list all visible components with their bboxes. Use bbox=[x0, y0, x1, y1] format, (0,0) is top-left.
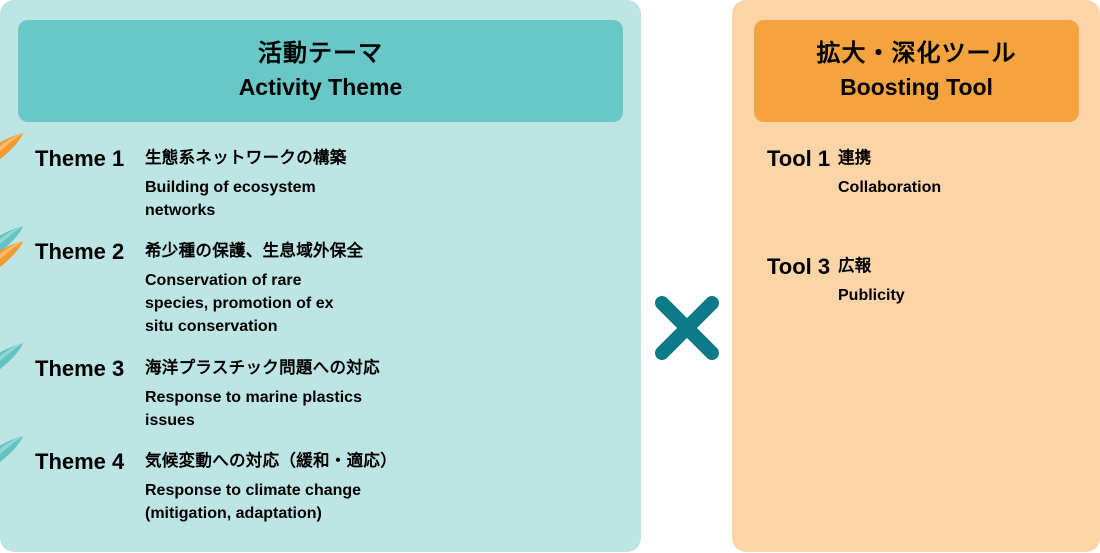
theme-tag: Theme 4 bbox=[35, 451, 124, 473]
tool-text-ja: 広報 bbox=[838, 258, 905, 275]
tool-tag: Tool 3 bbox=[767, 256, 830, 278]
theme-text-en: Response to climate change (mitigation, … bbox=[145, 479, 397, 525]
tool-tag: Tool 1 bbox=[767, 148, 830, 170]
tool-text-en: Publicity bbox=[838, 284, 905, 307]
theme-text-en: Building of ecosystem networks bbox=[145, 176, 347, 222]
theme-text-en: Conservation of rare species, promotion … bbox=[145, 269, 363, 339]
theme-text-en: Response to marine plastics issues bbox=[145, 386, 380, 432]
boosting-tool-header: 拡大・深化ツール Boosting Tool bbox=[754, 20, 1079, 122]
multiply-x-icon bbox=[652, 293, 722, 363]
boosting-tool-title-en: Boosting Tool bbox=[840, 73, 993, 102]
theme-text-ja: 気候変動への対応（緩和・適応） bbox=[145, 453, 397, 470]
tool-item: Tool 3 広報 Publicity bbox=[0, 256, 830, 278]
tool-text-block: 広報 Publicity bbox=[838, 258, 905, 307]
tool-text-en: Collaboration bbox=[838, 176, 941, 199]
theme-tag: Theme 3 bbox=[35, 358, 124, 380]
theme-item: Theme 3 海洋プラスチック問題への対応 Response to marin… bbox=[0, 358, 124, 380]
tool-item: Tool 1 連携 Collaboration bbox=[0, 148, 830, 170]
theme-text-ja: 海洋プラスチック問題への対応 bbox=[145, 360, 380, 377]
theme-text-block: 海洋プラスチック問題への対応 Response to marine plasti… bbox=[145, 360, 380, 432]
activity-theme-header: 活動テーマ Activity Theme bbox=[18, 20, 623, 122]
theme-item: Theme 4 気候変動への対応（緩和・適応） Response to clim… bbox=[0, 451, 124, 473]
tool-text-block: 連携 Collaboration bbox=[838, 150, 941, 199]
tool-text-ja: 連携 bbox=[838, 150, 941, 167]
boosting-tool-title-ja: 拡大・深化ツール bbox=[817, 39, 1017, 70]
activity-theme-title-ja: 活動テーマ bbox=[258, 39, 383, 70]
theme-tag: Theme 2 bbox=[35, 241, 124, 263]
activity-theme-title-en: Activity Theme bbox=[239, 73, 403, 102]
theme-tag: Theme 1 bbox=[35, 148, 124, 170]
theme-text-block: 気候変動への対応（緩和・適応） Response to climate chan… bbox=[145, 453, 397, 525]
